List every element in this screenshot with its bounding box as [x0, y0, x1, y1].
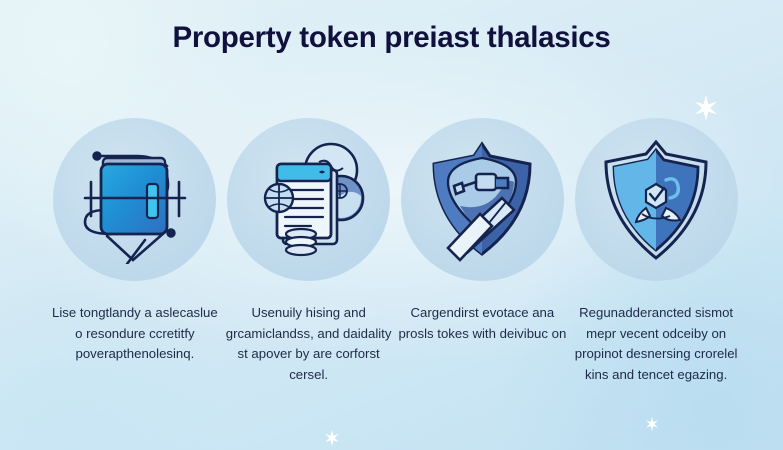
feature-caption: Regunadderancted sismot mepr vecent odce…: [570, 303, 742, 385]
feature-column: Regunadderancted sismot mepr vecent odce…: [569, 118, 743, 385]
feature-columns: Lise tongtlandy a aslecaslue o resondure…: [48, 118, 743, 385]
feature-caption: Lise tongtlandy a aslecaslue o resondure…: [49, 303, 221, 365]
feature-caption: Usenuily hising and grcamiclandss, and d…: [223, 303, 395, 385]
token-card-network-icon: [71, 136, 199, 264]
shield-gavel-icon: [418, 136, 546, 264]
icon-circle: [53, 118, 216, 281]
feature-column: Cargendirst evotace ana prosls tokes wit…: [396, 118, 570, 385]
icon-circle: [401, 118, 564, 281]
shield-verified-badge-icon: [592, 136, 720, 264]
icon-circle: [227, 118, 390, 281]
document-globe-coins-icon: [245, 136, 373, 264]
feature-caption: Cargendirst evotace ana prosls tokes wit…: [396, 303, 568, 344]
infographic-slide: Property token preiast thalasics: [0, 0, 783, 450]
sparkle-bottom-center-icon: [324, 430, 340, 446]
feature-column: Lise tongtlandy a aslecaslue o resondure…: [48, 118, 222, 385]
sparkle-bottom-right-icon: [645, 417, 659, 431]
feature-column: Usenuily hising and grcamiclandss, and d…: [222, 118, 396, 385]
page-title: Property token preiast thalasics: [0, 21, 783, 55]
icon-circle: [575, 118, 738, 281]
